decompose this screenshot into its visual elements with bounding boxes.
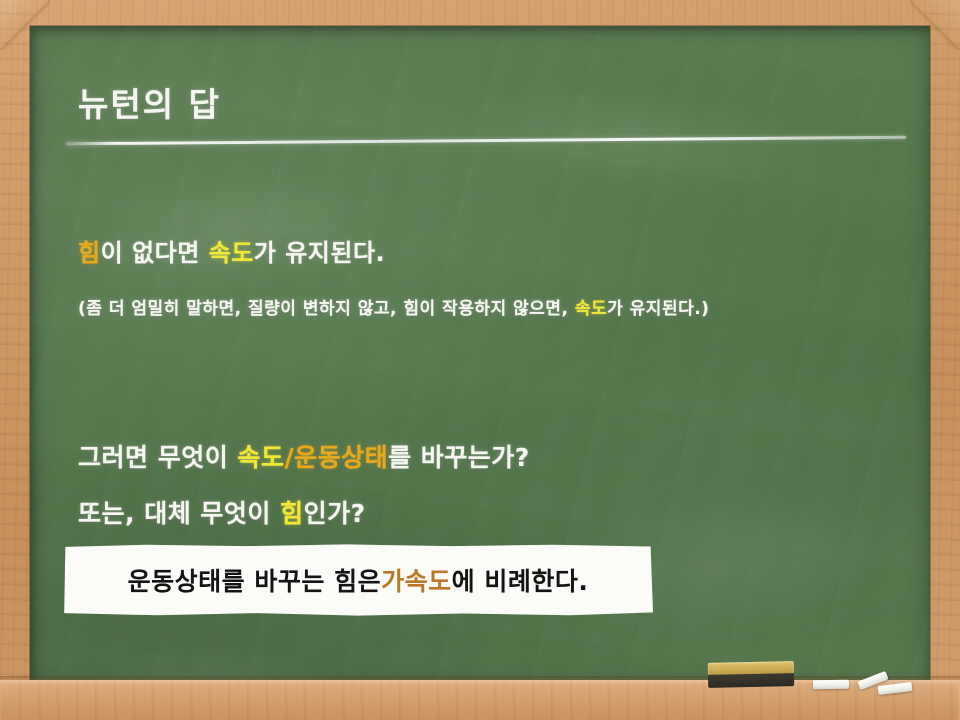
conclusion-highlight-box: 운동상태를 바꾸는 힘은 가속도에 비례한다. xyxy=(63,544,653,616)
statement-text-a: 이 없다면 xyxy=(101,239,209,267)
q1-text-b: 를 바꾸는가? xyxy=(388,443,530,472)
conclusion-text-a: 운동상태를 바꾸는 힘은 xyxy=(128,562,381,598)
paren-text-a: (좀 더 엄밀히 말하면, 질량이 변하지 않고, 힘이 작용하지 않으면, xyxy=(78,299,575,319)
question-line-2: 또는, 대체 무엇이 힘인가? xyxy=(78,494,366,530)
frame-right-grain xyxy=(926,0,960,720)
q1-motionstate-word: /운동상태 xyxy=(284,443,388,472)
chalk-stick-icon xyxy=(813,680,849,690)
q1-velocity-word: 속도 xyxy=(237,443,284,472)
question-line-1: 그러면 무엇이 속도/운동상태를 바꾸는가? xyxy=(78,438,530,474)
slide-chalkboard: 뉴턴의 답 힘이 없다면 속도가 유지된다. (좀 더 엄밀히 말하면, 질량이… xyxy=(0,0,960,720)
paren-velocity-word: 속도 xyxy=(575,299,607,319)
q2-text-b: 인가? xyxy=(304,499,366,528)
title-underline xyxy=(66,136,906,146)
parenthetical-note: (좀 더 엄밀히 말하면, 질량이 변하지 않고, 힘이 작용하지 않으면, 속… xyxy=(78,294,898,325)
conclusion-text: 운동상태를 바꾸는 힘은 가속도에 비례한다. xyxy=(63,544,653,616)
statement-line: 힘이 없다면 속도가 유지된다. xyxy=(78,238,385,269)
frame-left-grain xyxy=(0,0,34,720)
slide-title: 뉴턴의 답 xyxy=(78,78,221,126)
eraser-felt-pad xyxy=(708,673,794,688)
paren-text-b: 가 유지된다.) xyxy=(607,299,709,319)
conclusion-acceleration-word: 가속도 xyxy=(381,562,452,598)
conclusion-text-b: 에 비례한다. xyxy=(452,562,589,598)
eraser-icon xyxy=(708,661,795,688)
chalkboard-surface: 뉴턴의 답 힘이 없다면 속도가 유지된다. (좀 더 엄밀히 말하면, 질량이… xyxy=(30,26,930,686)
statement-velocity-word: 속도 xyxy=(209,239,254,267)
q2-force-word: 힘 xyxy=(280,499,304,528)
q1-text-a: 그러면 무엇이 xyxy=(78,443,237,472)
statement-force-word: 힘 xyxy=(78,239,101,267)
slide-content: 뉴턴의 답 힘이 없다면 속도가 유지된다. (좀 더 엄밀히 말하면, 질량이… xyxy=(30,26,930,686)
statement-text-b: 가 유지된다. xyxy=(254,239,385,267)
q2-text-a: 또는, 대체 무엇이 xyxy=(78,499,280,528)
